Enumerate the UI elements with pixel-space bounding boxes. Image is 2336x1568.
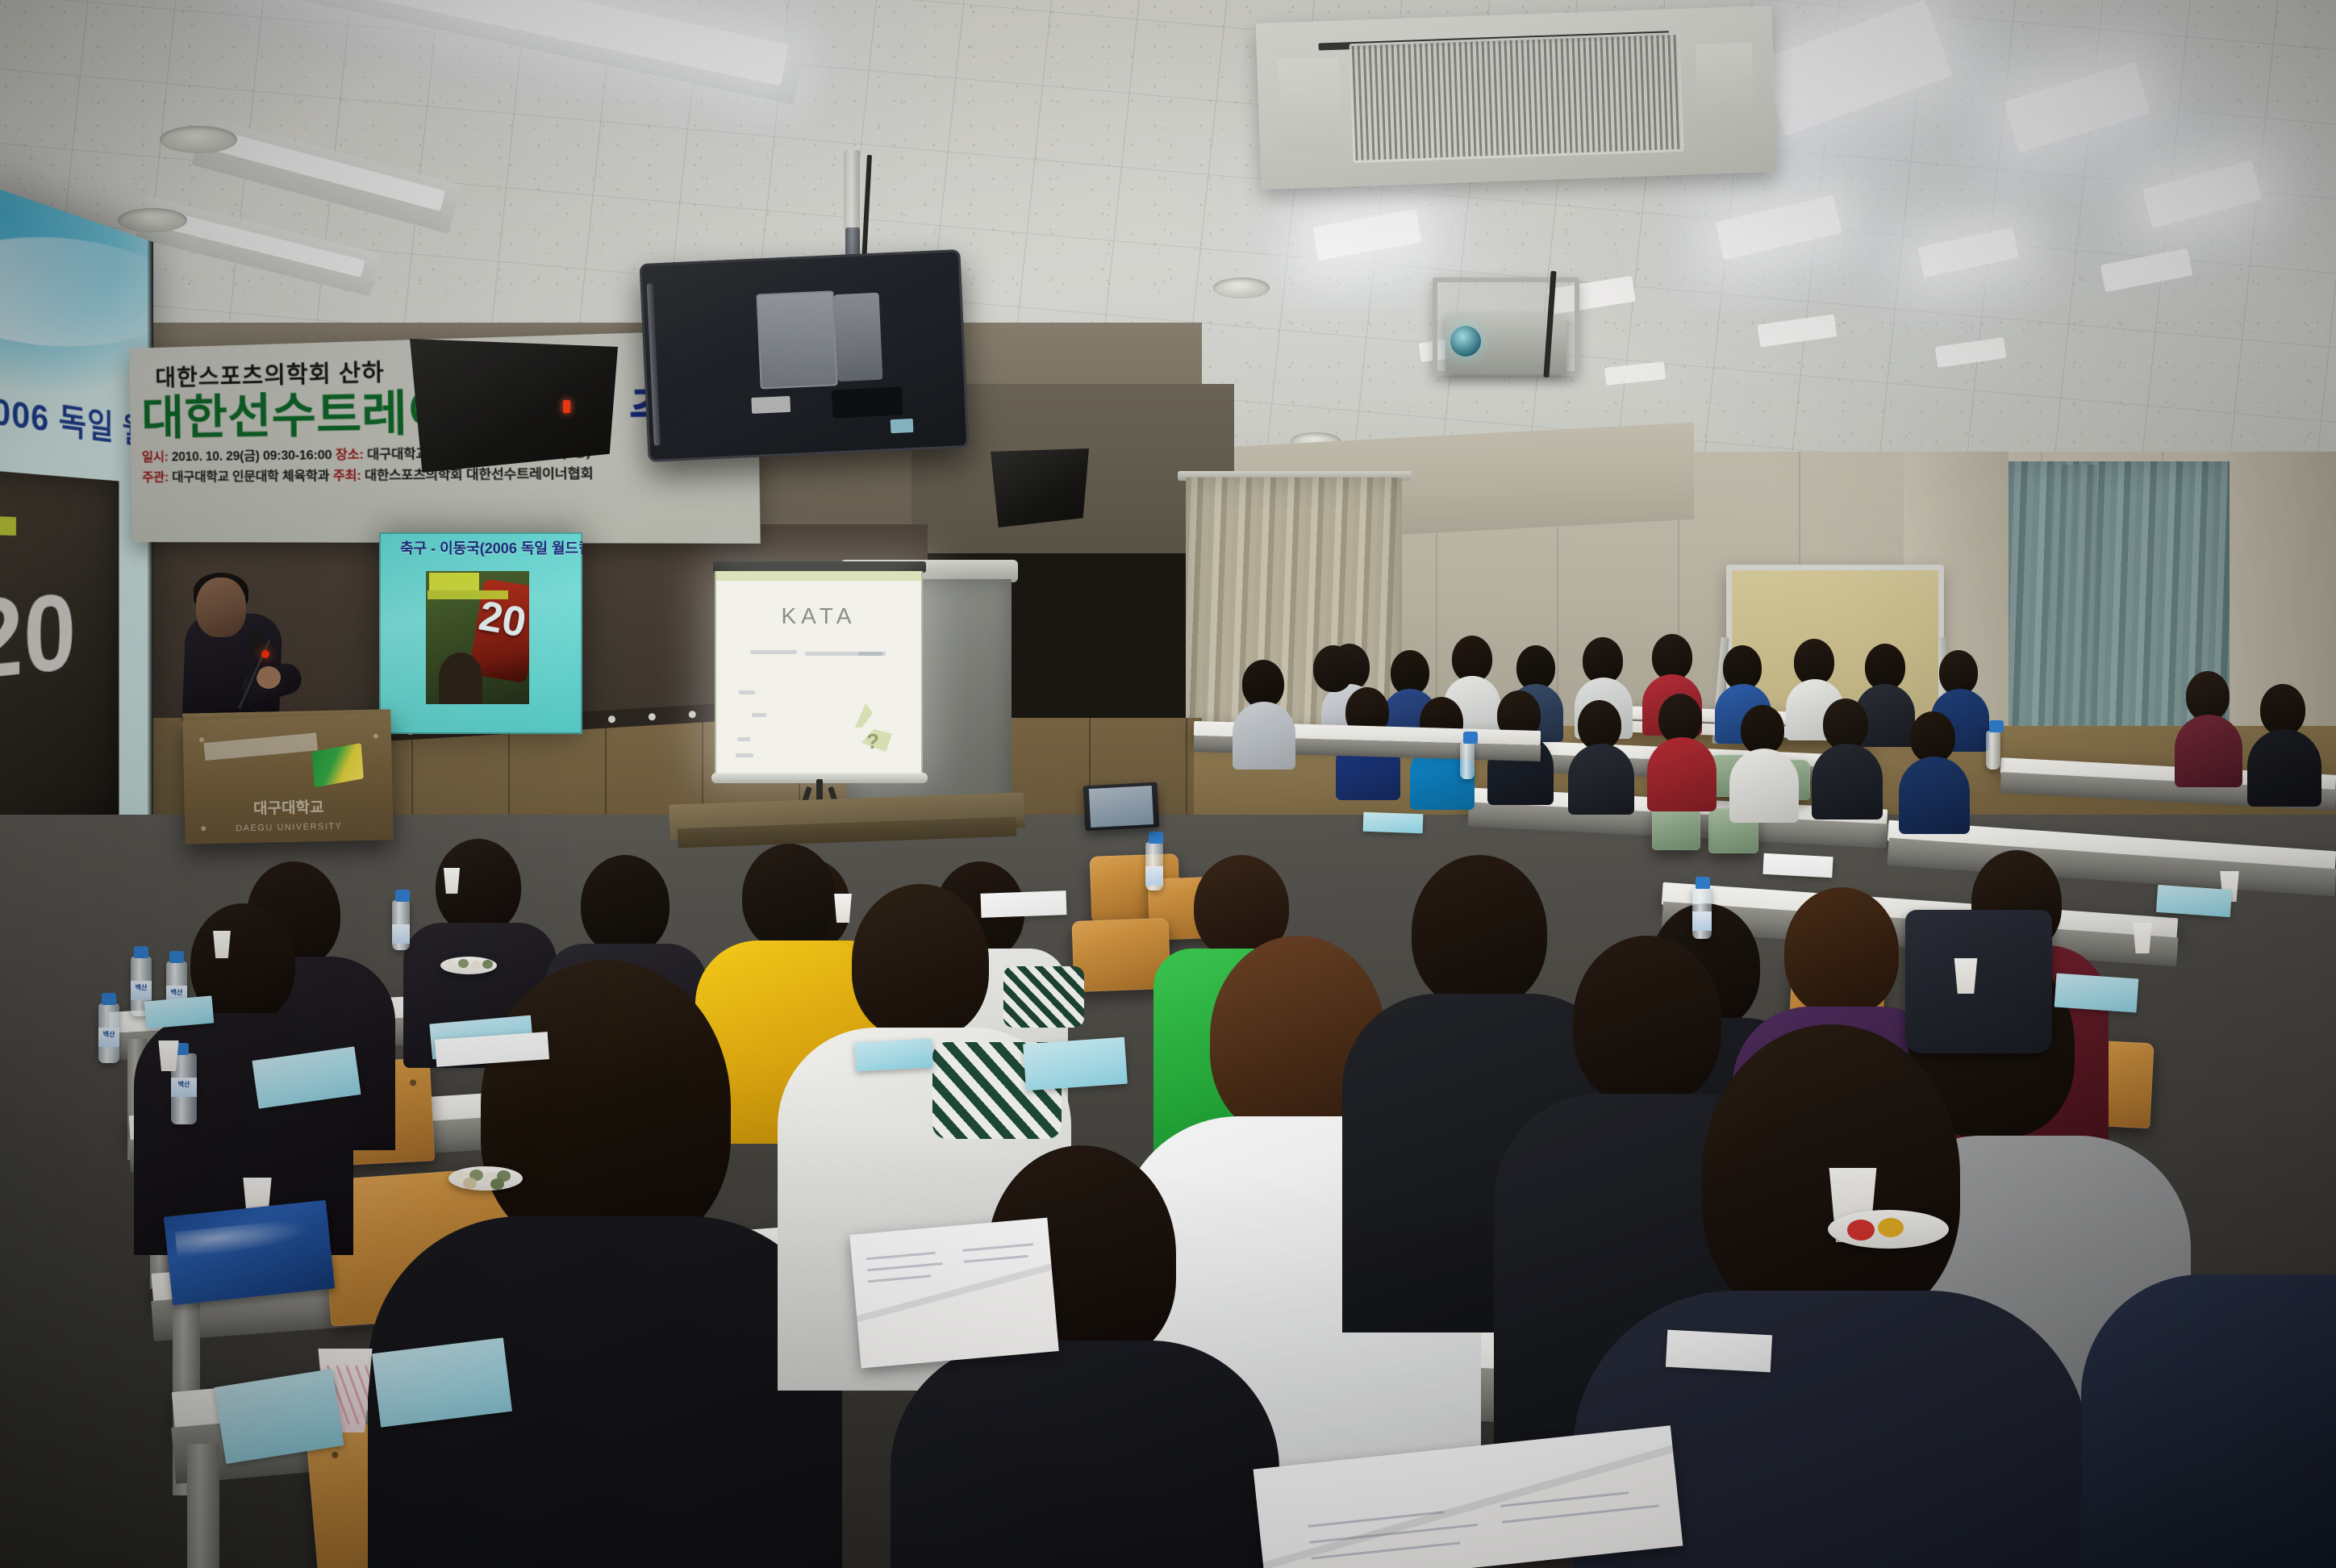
rice-cake <box>490 1178 504 1190</box>
water-bottle[interactable] <box>1460 742 1475 779</box>
rice-cake <box>482 960 493 969</box>
attendee-torso <box>1233 702 1295 769</box>
mid-slide-photo: 20 <box>426 571 529 704</box>
ceiling-downlight-2 <box>118 208 187 232</box>
booklet-text-line <box>964 1255 1028 1263</box>
screen-edge <box>148 240 153 882</box>
booklet-text-line <box>1309 1524 1478 1544</box>
rice-cake-plate <box>1828 1210 1949 1249</box>
water-bottle[interactable] <box>1145 842 1163 890</box>
tv-mount-pole-upper <box>844 150 860 231</box>
ac-side-vent-right <box>1696 43 1755 127</box>
tv-vesa-bracket-2 <box>833 293 882 382</box>
ceiling-tv <box>640 249 970 462</box>
handout-cyan[interactable] <box>2054 973 2139 1012</box>
rice-cake <box>1878 1218 1904 1237</box>
bottle-label <box>1145 866 1163 886</box>
bottle-cap <box>169 951 184 963</box>
attendee-head <box>852 884 989 1039</box>
tv-side-edge <box>647 283 661 446</box>
tripod-slide-title: KATA <box>716 603 921 629</box>
open-booklet[interactable] <box>849 1218 1059 1369</box>
mid-projection-screen: 축구 - 이동국(2006 독일 월드컵) 20 <box>379 532 582 734</box>
attendee-head <box>742 844 836 950</box>
attendee-head <box>581 855 670 955</box>
attendee-head <box>1573 936 1721 1105</box>
attendee-torso <box>2247 729 2321 807</box>
slide-text-line <box>737 737 750 741</box>
booklet-text-line <box>1311 1541 1460 1559</box>
wall-speaker-right <box>991 448 1089 528</box>
attendee-head <box>1578 700 1621 750</box>
banner-organizer: 대한스포츠의학회 대한선수트레이너협회 <box>365 467 594 483</box>
slide-text-line <box>736 753 753 757</box>
slide-text-line <box>750 650 797 654</box>
bottle-cap <box>1149 832 1163 844</box>
banner-host-label: 주관: <box>142 471 169 485</box>
handout-cyan[interactable] <box>854 1039 933 1072</box>
rice-cake <box>445 960 456 969</box>
attendee-head <box>1242 660 1284 708</box>
handout-white[interactable] <box>1762 853 1833 878</box>
rice-cake-plate <box>448 1166 523 1191</box>
left-slide-photo: 20 <box>0 466 119 862</box>
water-bottle[interactable] <box>392 900 410 950</box>
podium-english-name: DAEGU UNIVERSITY <box>185 820 393 834</box>
bottle-label-text: 백산 <box>98 1030 119 1039</box>
tv-port-panel <box>832 387 903 418</box>
chair-screw <box>332 1451 339 1458</box>
rail-hole <box>608 715 616 724</box>
slide-top-band <box>716 571 921 581</box>
tv-model-label <box>752 396 791 414</box>
banner-date-label: 일시: <box>142 451 169 465</box>
booklet-text-line <box>868 1274 931 1282</box>
ac-side-vent-left <box>1278 57 1343 152</box>
water-bottle[interactable] <box>1692 887 1712 939</box>
presenter-head <box>196 578 246 637</box>
podium-emblem <box>312 743 364 787</box>
handout-cyan[interactable] <box>1363 812 1424 834</box>
podium-screw <box>199 737 204 742</box>
attendee-head <box>2186 671 2230 721</box>
rice-cake <box>471 961 482 970</box>
handout-cyan[interactable] <box>144 995 215 1028</box>
attendee-torso <box>1568 744 1634 815</box>
handout-white[interactable] <box>981 890 1067 918</box>
ac-grille <box>1349 32 1684 164</box>
rice-cake <box>1847 1220 1875 1241</box>
attendee-head <box>1658 694 1702 744</box>
attendee-torso <box>1812 744 1883 819</box>
tv-vesa-bracket <box>757 291 838 390</box>
booklet-text-line <box>1308 1511 1444 1528</box>
slide-text-line <box>858 652 886 656</box>
banner-place-label: 장소: <box>336 448 364 462</box>
tv-energy-sticker <box>891 419 914 433</box>
rail-hole <box>649 713 657 721</box>
bottle-label-text: 백산 <box>131 983 152 992</box>
ceiling-downlight-3 <box>1213 277 1270 298</box>
ceiling-downlight-1 <box>160 126 237 153</box>
handout-cyan[interactable] <box>1023 1037 1128 1091</box>
water-bottle[interactable] <box>1986 731 2000 769</box>
slide-broadcast-tag-2 <box>428 590 508 599</box>
attendee-head <box>2260 684 2305 736</box>
bottle-cap <box>134 946 148 958</box>
podium-screw <box>201 826 206 831</box>
projector-lens <box>1450 326 1481 357</box>
microphone-led <box>261 650 269 658</box>
mid-slide-jersey-number: 20 <box>475 591 529 647</box>
water-bottle[interactable]: 백산 <box>98 1003 119 1063</box>
attendee-collar <box>1003 966 1084 1028</box>
handout-cyan[interactable] <box>2156 885 2232 917</box>
attendee-torso <box>1899 757 1970 834</box>
banner-host: 대구대학교 인문대학 체육학과 <box>172 469 330 485</box>
air-conditioner-unit <box>1256 6 1778 190</box>
slide-photo-badge <box>0 514 16 536</box>
slide-player-head <box>439 653 482 704</box>
rail-hole <box>688 711 696 719</box>
booklet-text-line <box>867 1262 943 1271</box>
attendee-torso <box>2175 715 2242 787</box>
rice-cake <box>458 959 469 968</box>
bottle-cap <box>102 993 116 1005</box>
attendee-head <box>481 960 731 1250</box>
slide-text-line <box>752 713 766 717</box>
banner-org-label: 주최: <box>333 469 361 483</box>
attendee-torso <box>2081 1274 2336 1568</box>
rice-cake-plate <box>440 957 497 974</box>
podium-korean-name: 대구대학교 <box>185 794 394 819</box>
attendee-head <box>1313 645 1354 692</box>
handout-white[interactable] <box>1666 1330 1772 1373</box>
bottle-label-text: 백산 <box>166 988 187 997</box>
presenter-hand <box>257 666 281 689</box>
chair-screw <box>410 1079 416 1086</box>
wall-speaker-left <box>410 339 618 473</box>
booklet-text-line <box>866 1252 936 1260</box>
attendee-torso <box>1647 737 1717 811</box>
slide-question-mark: ? <box>866 729 879 754</box>
bottle-cap <box>1463 732 1478 744</box>
speaker-led <box>563 400 570 413</box>
bottle-cap <box>1989 720 2004 732</box>
attendee-head <box>1910 711 1955 763</box>
attendee-head <box>1741 705 1784 755</box>
banner-date: 2010. 10. 29(금) 09:30-16:00 <box>172 448 332 465</box>
attendee-head <box>1823 699 1868 750</box>
table-leg <box>187 1444 219 1568</box>
tripod-projection-screen: KATA ? <box>710 557 929 815</box>
slide-broadcast-tag <box>429 573 479 590</box>
bottle-cap <box>1696 877 1710 889</box>
left-slide-jersey-number: 20 <box>0 572 76 707</box>
booklet-text-line <box>1502 1504 1659 1523</box>
booklet-text-line <box>1500 1491 1629 1508</box>
mid-slide-title: 축구 - 이동국(2006 독일 월드컵) <box>400 537 578 558</box>
attendee-torso <box>1729 749 1799 823</box>
tripod-screen-surface: KATA ? <box>715 571 923 773</box>
laptop[interactable] <box>1083 782 1160 832</box>
attendee-head <box>1784 887 1899 1016</box>
bottle-label-text: 백산 <box>171 1080 197 1089</box>
podium-screw <box>373 734 378 739</box>
slide-text-line <box>739 690 755 694</box>
lecture-hall-photo: 2006 독일 월드컵 20 대한스포츠의학회 산하 대한선수트레이너 협회 추… <box>0 0 2336 1568</box>
bottle-cap <box>395 890 410 902</box>
rice-cake <box>463 1178 477 1189</box>
laptop-screen <box>1089 786 1153 827</box>
bottle-label <box>392 924 410 944</box>
backpack <box>1905 910 2052 1053</box>
slide-leaf-decoration-1 <box>855 703 873 728</box>
seminar-booklet[interactable] <box>164 1200 335 1306</box>
booklet-text-line <box>962 1243 1033 1252</box>
chair-green[interactable] <box>1652 805 1700 850</box>
attendee-head <box>1412 855 1547 1008</box>
bottle-label <box>1692 911 1712 931</box>
podium: 대구대학교 DAEGU UNIVERSITY <box>182 709 393 844</box>
attendee-torso <box>891 1341 1279 1568</box>
podium-papers <box>204 732 318 761</box>
